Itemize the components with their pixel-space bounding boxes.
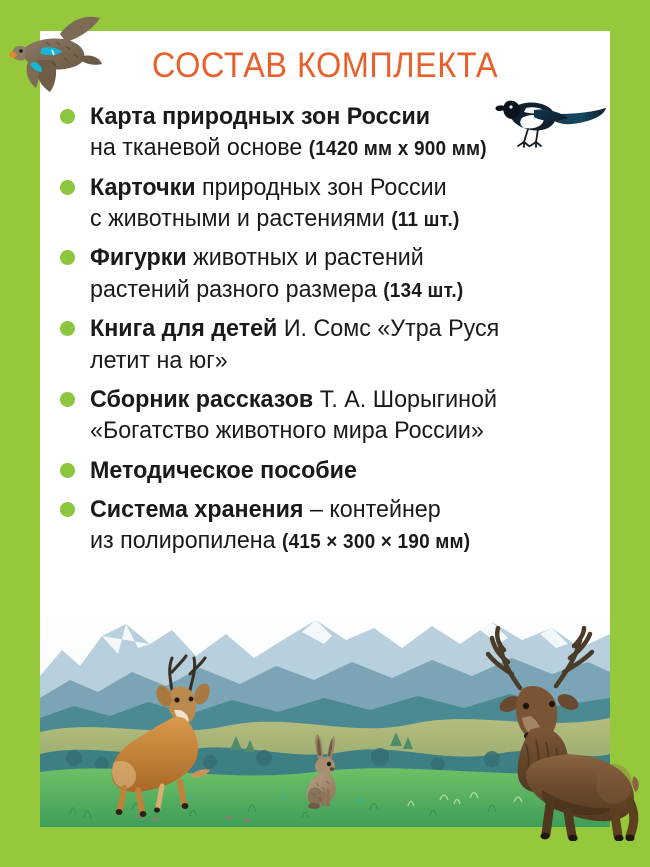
list-item: Методическое пособие	[60, 455, 600, 486]
item-spec-text: (134 шт.)	[383, 280, 463, 302]
red-deer-stag-icon	[468, 626, 650, 841]
hare-icon	[298, 733, 348, 811]
item-body-text: И. Сомс «Утра Руся	[284, 315, 499, 342]
item-body-text: – контейнер	[310, 496, 441, 523]
magpie-bird-icon	[494, 84, 610, 154]
list-item: Карточки природных зон Россиис животными…	[60, 172, 600, 235]
bullet-dot-icon	[60, 180, 75, 195]
item-body-text: с животными и растениями	[90, 205, 391, 232]
item-body-text: Т. А. Шорыгиной	[320, 386, 497, 413]
list-item: Система хранения – контейнериз полиропил…	[60, 494, 600, 557]
bullet-dot-icon	[60, 109, 75, 124]
item-spec-text: (1420 мм x 900 мм)	[309, 138, 487, 160]
list-item-line: Система хранения – контейнер	[90, 494, 575, 525]
item-title-text: Фигурки	[90, 244, 193, 271]
item-title-text: Карта природных зон России	[90, 103, 430, 130]
item-title-text: Карточки	[90, 174, 202, 201]
item-body-text: животных и растений	[193, 244, 424, 271]
list-item: Фигурки животных и растенийрастений разн…	[60, 242, 600, 305]
item-title-text: Система хранения	[90, 496, 310, 523]
list-item-line: Сборник рассказов Т. А. Шорыгиной	[90, 384, 575, 415]
list-item-line: Книга для детей И. Сомс «Утра Руся	[90, 313, 575, 344]
list-item-line: Методическое пособие	[90, 455, 575, 486]
bullet-dot-icon	[60, 502, 75, 517]
roe-deer-icon	[98, 652, 224, 818]
item-body-text: летит на юг»	[90, 347, 228, 374]
list-item-line: растений разного размера (134 шт.)	[90, 274, 575, 305]
list-item-line: из полиропилена (415 × 300 × 190 мм)	[90, 525, 575, 556]
bullet-dot-icon	[60, 463, 75, 478]
list-item-line: летит на юг»	[90, 345, 575, 376]
item-body-text: растений разного размера	[90, 276, 383, 303]
list-item-line: Фигурки животных и растений	[90, 242, 575, 273]
item-spec-text: (415 × 300 × 190 мм)	[282, 531, 470, 553]
list-item: Сборник рассказов Т. А. Шорыгиной«Богатс…	[60, 384, 600, 447]
item-spec-text: (11 шт.)	[391, 209, 459, 231]
item-title-text: Сборник рассказов	[90, 386, 320, 413]
flying-mallard-duck-icon	[8, 12, 104, 96]
list-item-line: с животными и растениями (11 шт.)	[90, 203, 575, 234]
list-item: Книга для детей И. Сомс «Утра Русялетит …	[60, 313, 600, 376]
item-title-text: Книга для детей	[90, 315, 284, 342]
bullet-dot-icon	[60, 392, 75, 407]
poster-root: СОСТАВ КОМПЛЕКТА Карта природных зон Рос…	[0, 0, 650, 867]
item-body-text: из полиропилена	[90, 527, 282, 554]
item-body-text: «Богатство животного мира России»	[90, 417, 484, 444]
item-body-text: на тканевой основе	[90, 134, 309, 161]
page-title: СОСТАВ КОМПЛЕКТА	[60, 46, 590, 86]
kit-contents-list: Карта природных зон Россиина тканевой ос…	[60, 101, 600, 565]
item-title-text: Методическое пособие	[90, 457, 357, 484]
item-body-text: природных зон России	[202, 174, 447, 201]
list-item-line: Карточки природных зон России	[90, 172, 575, 203]
list-item-line: «Богатство животного мира России»	[90, 415, 575, 446]
bullet-dot-icon	[60, 250, 75, 265]
bullet-dot-icon	[60, 321, 75, 336]
